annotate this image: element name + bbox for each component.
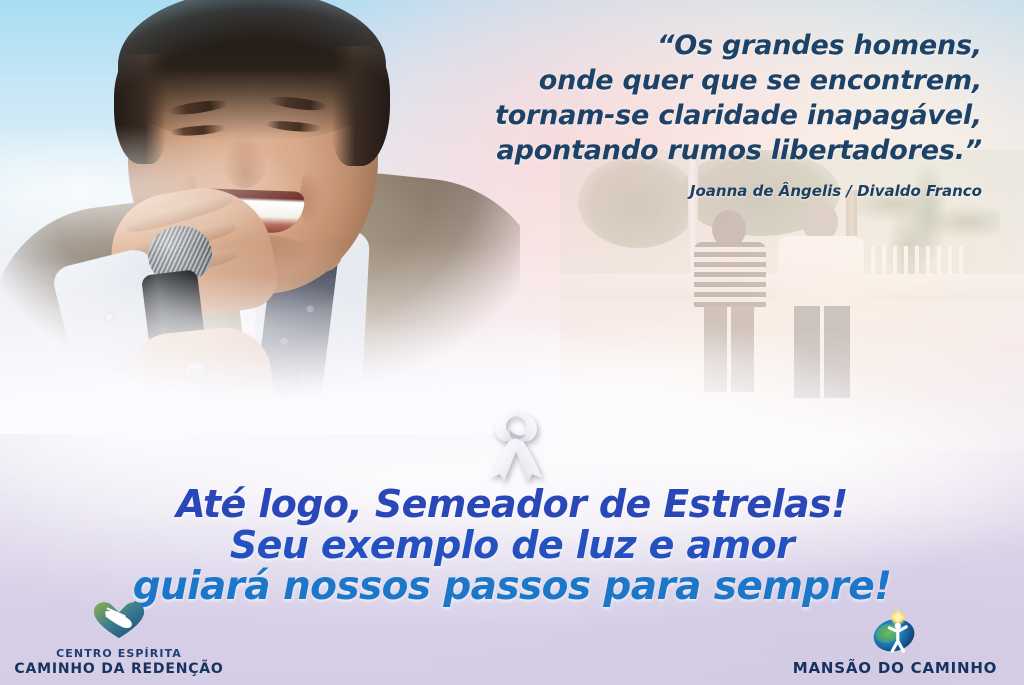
quote-line-1: “Os grandes homens,	[422, 28, 982, 63]
quote-block: “Os grandes homens, onde quer que se enc…	[422, 28, 982, 200]
logo-mansao-do-caminho: MANSÃO DO CAMINHO	[780, 609, 1010, 677]
white-ribbon-icon	[484, 408, 548, 484]
quote-line-4: apontando rumos libertadores.”	[422, 133, 982, 168]
logo-left-line1: CENTRO ESPÍRITA	[56, 647, 182, 660]
heart-hands-icon	[90, 598, 148, 644]
quote-line-2: onde quer que se encontrem,	[422, 63, 982, 98]
quote-attribution: Joanna de Ângelis / Divaldo Franco	[422, 182, 982, 200]
logo-centro-espirita: CENTRO ESPÍRITA CAMINHO DA REDENÇÃO	[14, 598, 224, 677]
logo-left-line2: CAMINHO DA REDENÇÃO	[14, 661, 223, 677]
logo-right-line1: MANSÃO DO CAMINHO	[793, 659, 997, 677]
quote-line-3: tornam-se claridade inapagável,	[422, 98, 982, 133]
memorial-poster: “Os grandes homens, onde quer que se enc…	[0, 0, 1024, 685]
message-line-2: Seu exemplo de luz e amor	[0, 525, 1024, 566]
globe-figure-star-icon	[867, 609, 923, 658]
memorial-message: Até logo, Semeador de Estrelas! Seu exem…	[0, 484, 1024, 607]
message-line-1: Até logo, Semeador de Estrelas!	[0, 484, 1024, 525]
